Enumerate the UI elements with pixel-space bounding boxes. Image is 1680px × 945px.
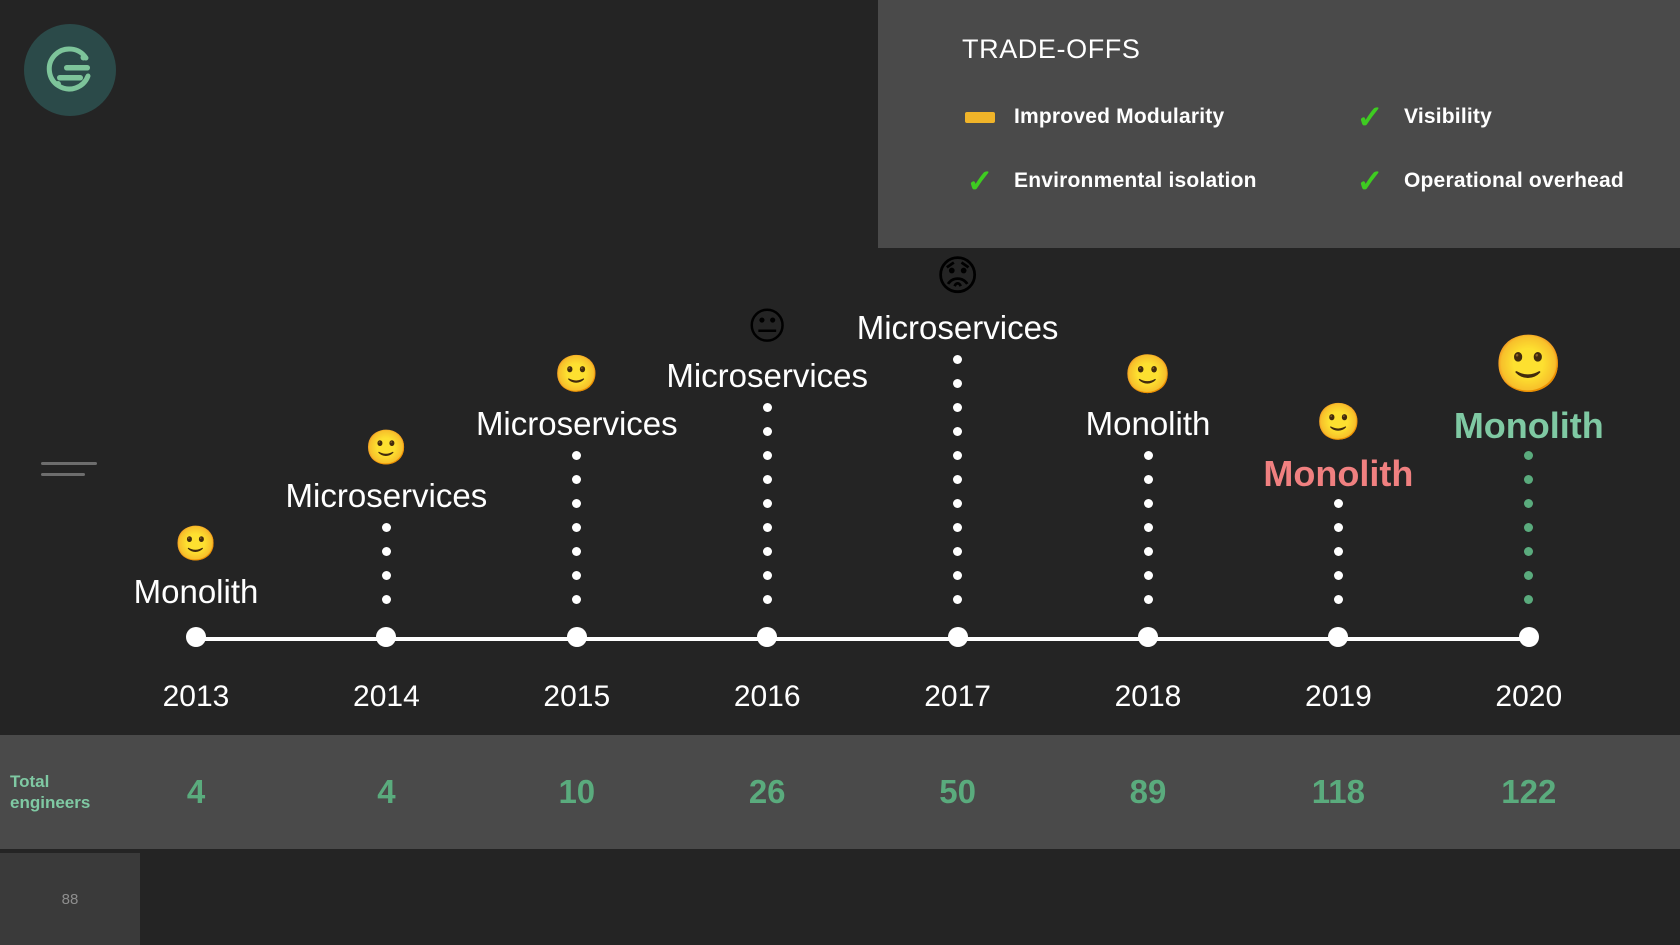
connector-dot xyxy=(1524,451,1533,460)
tradeoffs-panel: TRADE-OFFS Improved Modularity✓Visibilit… xyxy=(878,0,1680,248)
connector-dot xyxy=(572,571,581,580)
connector-dot xyxy=(763,547,772,556)
check-glyph: ✓ xyxy=(1357,101,1384,133)
total-engineers-value: 26 xyxy=(667,773,867,811)
year-label: 2018 xyxy=(1048,680,1248,714)
total-engineers-value: 4 xyxy=(96,773,296,811)
connector-dot xyxy=(953,379,962,388)
connector-dot xyxy=(763,595,772,604)
architecture-label: Monolith xyxy=(0,573,406,611)
year-label: 2013 xyxy=(96,680,296,714)
year-label: 2019 xyxy=(1238,680,1438,714)
connector-dot xyxy=(1334,571,1343,580)
total-engineers-value: 50 xyxy=(858,773,1058,811)
connector-dot xyxy=(953,451,962,460)
tradeoff-label: Operational overhead xyxy=(1404,169,1624,193)
connector-dot xyxy=(1334,547,1343,556)
timeline-node[interactable] xyxy=(757,627,777,647)
connector-dot xyxy=(1524,475,1533,484)
year-label: 2014 xyxy=(286,680,486,714)
connector-dot xyxy=(572,475,581,484)
connector-dots xyxy=(952,355,964,604)
connector-dots xyxy=(1523,451,1535,604)
check-marker: ✓ xyxy=(1352,101,1388,133)
connector-dot xyxy=(953,523,962,532)
connector-dot xyxy=(1334,523,1343,532)
check-marker: ✓ xyxy=(962,165,998,197)
mood-emoji-slightly-smiling-face: 🙂 xyxy=(1088,355,1208,393)
total-engineers-value: 122 xyxy=(1429,773,1629,811)
mood-emoji-frowning-face: 😟 xyxy=(898,255,1018,297)
tradeoff-item: Improved Modularity xyxy=(962,101,1352,133)
year-label: 2017 xyxy=(858,680,1058,714)
connector-dots xyxy=(571,451,583,604)
connector-dots xyxy=(1332,499,1344,604)
connector-dot xyxy=(1334,595,1343,604)
connector-dot xyxy=(1144,547,1153,556)
architecture-label: Microservices xyxy=(367,405,787,443)
year-label: 2020 xyxy=(1429,680,1629,714)
connector-dot xyxy=(382,523,391,532)
tradeoff-item: ✓Operational overhead xyxy=(1352,165,1680,197)
connector-dot xyxy=(1144,595,1153,604)
check-glyph: ✓ xyxy=(967,165,994,197)
year-label: 2016 xyxy=(667,680,867,714)
architecture-label: Monolith xyxy=(1319,405,1680,447)
connector-dot xyxy=(382,547,391,556)
connector-dot xyxy=(572,451,581,460)
architecture-label: Microservices xyxy=(748,309,1168,347)
connector-dot xyxy=(572,595,581,604)
timeline-node[interactable] xyxy=(1519,627,1539,647)
mood-emoji-slightly-smiling-face: 🙂 xyxy=(1469,337,1589,393)
connector-dot xyxy=(763,427,772,436)
logo-mark-icon xyxy=(42,42,98,98)
deco-line-1 xyxy=(41,462,97,465)
connector-dot xyxy=(382,595,391,604)
connector-dot xyxy=(1524,499,1533,508)
connector-dot xyxy=(1524,547,1533,556)
dash-marker xyxy=(962,112,998,123)
check-marker: ✓ xyxy=(1352,165,1388,197)
brand-logo[interactable] xyxy=(24,24,116,116)
slide-canvas: TRADE-OFFS Improved Modularity✓Visibilit… xyxy=(0,0,1680,945)
connector-dot xyxy=(1524,571,1533,580)
totals-band: Total engineers 4410265089118122 xyxy=(0,735,1680,849)
total-engineers-value: 118 xyxy=(1238,773,1438,811)
connector-dot xyxy=(953,475,962,484)
tradeoff-item: ✓Visibility xyxy=(1352,101,1680,133)
connector-dot xyxy=(953,499,962,508)
connector-dot xyxy=(1144,523,1153,532)
timeline-node[interactable] xyxy=(1138,627,1158,647)
timeline-node[interactable] xyxy=(1328,627,1348,647)
connector-dot xyxy=(1524,595,1533,604)
connector-dot xyxy=(953,595,962,604)
total-engineers-value: 89 xyxy=(1048,773,1248,811)
connector-dot xyxy=(953,355,962,364)
tradeoffs-list: Improved Modularity✓Visibility✓Environme… xyxy=(962,101,1680,197)
connector-dot xyxy=(763,571,772,580)
architecture-label: Microservices xyxy=(557,357,977,395)
tradeoff-label: Improved Modularity xyxy=(1014,105,1224,129)
connector-dot xyxy=(763,523,772,532)
connector-dots xyxy=(761,403,773,604)
connector-dot xyxy=(763,451,772,460)
timeline-node[interactable] xyxy=(567,627,587,647)
deco-line-2 xyxy=(41,473,85,476)
connector-dot xyxy=(1144,571,1153,580)
dash-glyph xyxy=(965,112,995,123)
timeline-node[interactable] xyxy=(376,627,396,647)
connector-dots xyxy=(380,523,392,604)
connector-dot xyxy=(763,475,772,484)
page-number: 88 xyxy=(62,891,79,908)
connector-dot xyxy=(763,499,772,508)
total-engineers-value: 10 xyxy=(477,773,677,811)
connector-dot xyxy=(953,571,962,580)
check-glyph: ✓ xyxy=(1357,165,1384,197)
connector-dot xyxy=(572,547,581,556)
architecture-label: Monolith xyxy=(1128,453,1548,495)
tradeoffs-title: TRADE-OFFS xyxy=(962,34,1680,65)
connector-dot xyxy=(953,547,962,556)
tradeoff-label: Environmental isolation xyxy=(1014,169,1257,193)
connector-dot xyxy=(763,403,772,412)
year-label: 2015 xyxy=(477,680,677,714)
architecture-label: Microservices xyxy=(176,477,596,515)
logo-circle xyxy=(24,24,116,116)
decorative-lines xyxy=(41,462,97,484)
timeline-node[interactable] xyxy=(948,627,968,647)
connector-dot xyxy=(572,523,581,532)
connector-dot xyxy=(382,571,391,580)
connector-dot xyxy=(572,499,581,508)
tradeoff-label: Visibility xyxy=(1404,105,1492,129)
timeline-node[interactable] xyxy=(186,627,206,647)
mood-emoji-slightly-smiling-face: 🙂 xyxy=(136,527,256,561)
connector-dot xyxy=(1334,499,1343,508)
tradeoff-item: ✓Environmental isolation xyxy=(962,165,1352,197)
footer-page-box: 88 xyxy=(0,853,140,945)
connector-dot xyxy=(1524,523,1533,532)
total-engineers-value: 4 xyxy=(286,773,486,811)
connector-dot xyxy=(1144,499,1153,508)
